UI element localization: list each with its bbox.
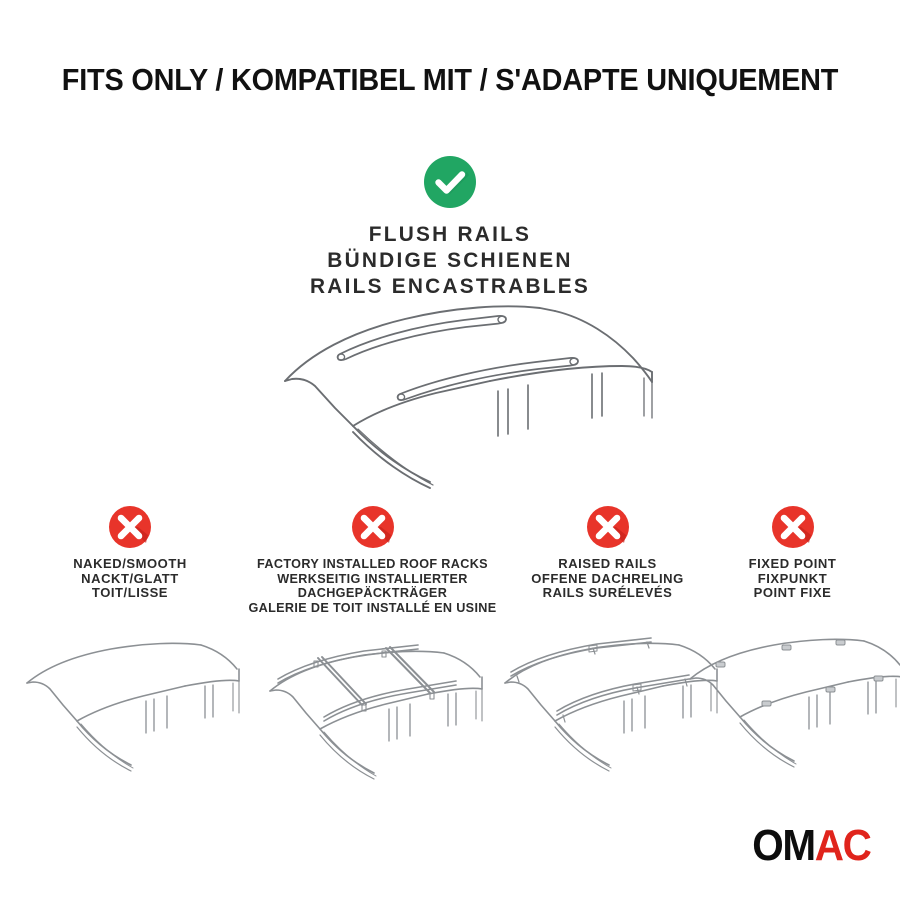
incompatible-label-group: FIXED POINT FIXPUNKT POINT FIXE bbox=[702, 557, 883, 601]
incompatible-label-en: RAISED RAILS bbox=[502, 557, 713, 572]
incompatible-label-fr: RAILS SURÉLEVÉS bbox=[502, 586, 713, 601]
page-title: FITS ONLY / KOMPATIBEL MIT / S'ADAPTE UN… bbox=[32, 62, 869, 98]
incompatible-label-en: NAKED/SMOOTH bbox=[22, 557, 238, 572]
fitment-infographic: FITS ONLY / KOMPATIBEL MIT / S'ADAPTE UN… bbox=[0, 0, 900, 900]
incompatible-label-fr: TOIT/LISSE bbox=[22, 586, 238, 601]
red-x-circle-icon bbox=[586, 505, 630, 549]
car-roof-naked-smooth-illustration bbox=[15, 635, 245, 775]
compatible-block: FLUSH RAILS BÜNDIGE SCHIENEN RAILS ENCAS… bbox=[0, 155, 900, 299]
incompatible-label-group: NAKED/SMOOTH NACKT/GLATT TOIT/LISSE bbox=[22, 557, 238, 601]
car-roof-factory-rack-illustration bbox=[258, 643, 488, 783]
incompatible-item-naked-smooth: NAKED/SMOOTH NACKT/GLATT TOIT/LISSE bbox=[20, 505, 240, 601]
incompatible-label-de-1: WERKSEITIG INSTALLIERTER bbox=[238, 572, 508, 587]
compatible-label-en: FLUSH RAILS bbox=[14, 221, 887, 247]
omac-logo-red-part: AC bbox=[814, 821, 870, 870]
incompatible-label-de-2: DACHGEPÄCKTRÄGER bbox=[238, 586, 508, 601]
car-roof-flush-rails-illustration bbox=[240, 296, 680, 496]
green-check-circle-icon bbox=[423, 155, 477, 209]
omac-logo: OMAC bbox=[752, 824, 870, 868]
incompatible-label-fr: POINT FIXE bbox=[702, 586, 883, 601]
red-x-circle-icon bbox=[351, 505, 395, 549]
incompatible-item-fixed-point: FIXED POINT FIXPUNKT POINT FIXE bbox=[700, 505, 885, 601]
incompatible-item-factory-racks: FACTORY INSTALLED ROOF RACKS WERKSEITIG … bbox=[235, 505, 510, 615]
incompatible-item-raised-rails: RAISED RAILS OFFENE DACHRELING RAILS SUR… bbox=[500, 505, 715, 601]
red-x-circle-icon bbox=[771, 505, 815, 549]
incompatible-label-en: FIXED POINT bbox=[702, 557, 883, 572]
red-x-circle-icon bbox=[108, 505, 152, 549]
incompatible-label-fr: GALERIE DE TOIT INSTALLÉ EN USINE bbox=[238, 601, 508, 616]
incompatible-label-group: RAISED RAILS OFFENE DACHRELING RAILS SUR… bbox=[502, 557, 713, 601]
incompatible-label-en: FACTORY INSTALLED ROOF RACKS bbox=[238, 557, 508, 572]
omac-logo-dark-part: OM bbox=[752, 821, 814, 870]
compatible-label-group: FLUSH RAILS BÜNDIGE SCHIENEN RAILS ENCAS… bbox=[14, 221, 887, 299]
incompatible-label-de: FIXPUNKT bbox=[702, 572, 883, 587]
incompatible-label-de: OFFENE DACHRELING bbox=[502, 572, 713, 587]
compatible-label-de: BÜNDIGE SCHIENEN bbox=[14, 247, 887, 273]
car-roof-fixed-point-illustration bbox=[678, 631, 900, 771]
incompatible-label-de: NACKT/GLATT bbox=[22, 572, 238, 587]
incompatible-label-group: FACTORY INSTALLED ROOF RACKS WERKSEITIG … bbox=[238, 557, 508, 615]
